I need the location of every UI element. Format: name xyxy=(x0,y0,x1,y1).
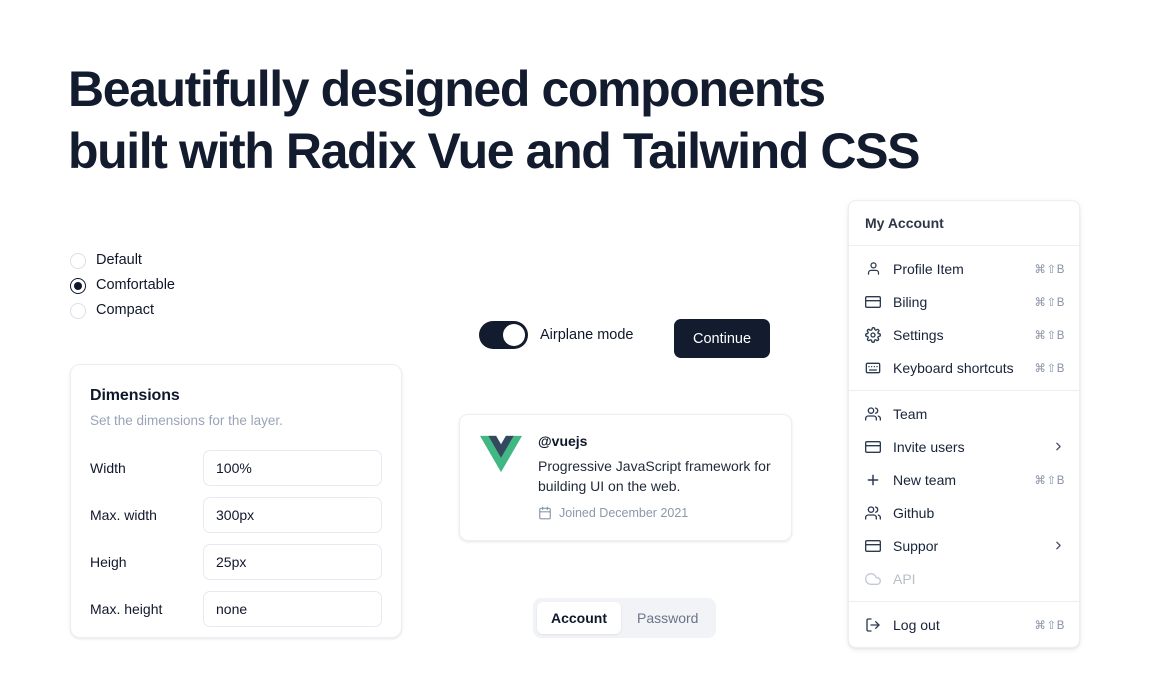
vuejs-joined-row: Joined December 2021 xyxy=(538,506,771,520)
menu-item-label: Biling xyxy=(893,294,1022,310)
vuejs-description: Progressive JavaScript framework for bui… xyxy=(538,457,771,497)
menu-item-label: Team xyxy=(893,406,1065,422)
user-icon xyxy=(865,261,881,277)
radio-indicator[interactable] xyxy=(70,303,86,319)
dimension-input-max-height[interactable] xyxy=(203,591,382,627)
page-title-line-2: built with Radix Vue and Tailwind CSS xyxy=(68,120,1008,182)
dimension-input-max-width[interactable] xyxy=(203,497,382,533)
logout-icon xyxy=(865,617,881,633)
users-icon xyxy=(865,406,881,422)
menu-item-settings[interactable]: Settings⌘⇧B xyxy=(849,318,1079,351)
menu-item-label: Github xyxy=(893,505,1065,521)
plus-icon xyxy=(865,472,881,488)
airplane-mode-label: Airplane mode xyxy=(540,327,634,343)
menu-item-label: New team xyxy=(893,472,1022,488)
menu-item-github[interactable]: Github xyxy=(849,496,1079,529)
dimensions-title: Dimensions xyxy=(90,387,382,405)
tab-password[interactable]: Password xyxy=(623,602,712,634)
credit-card-icon xyxy=(865,294,881,310)
dimension-input-heigh[interactable] xyxy=(203,544,382,580)
radio-option-label: Compact xyxy=(96,303,154,318)
menu-item-label: API xyxy=(893,571,1065,587)
dimension-label: Max. height xyxy=(90,601,203,617)
page-title: Beautifully designed components built wi… xyxy=(68,58,1008,182)
gear-icon xyxy=(865,327,881,343)
menu-item-shortcut: ⌘⇧B xyxy=(1034,473,1065,487)
airplane-mode-switch[interactable] xyxy=(479,321,528,349)
menu-item-new-team[interactable]: New team⌘⇧B xyxy=(849,463,1079,496)
dimensions-fields: WidthMax. widthHeighMax. height xyxy=(90,444,382,632)
menu-item-label: Invite users xyxy=(893,439,1040,455)
dimension-row: Max. height xyxy=(90,585,382,632)
my-account-dropdown-menu: My Account Profile Item⌘⇧BBiling⌘⇧BSetti… xyxy=(848,200,1080,648)
dimension-label: Max. width xyxy=(90,507,203,523)
radio-option-comfortable[interactable]: Comfortable xyxy=(70,273,175,298)
dimensions-subtitle: Set the dimensions for the layer. xyxy=(90,413,382,428)
menu-item-shortcut: ⌘⇧B xyxy=(1034,262,1065,276)
vuejs-joined-text: Joined December 2021 xyxy=(559,506,688,520)
menu-item-profile-item[interactable]: Profile Item⌘⇧B xyxy=(849,252,1079,285)
credit-card-icon xyxy=(865,538,881,554)
radio-option-compact[interactable]: Compact xyxy=(70,298,175,323)
vue-logo-icon xyxy=(480,435,522,473)
dimension-input-width[interactable] xyxy=(203,450,382,486)
menu-item-shortcut: ⌘⇧B xyxy=(1034,618,1065,632)
menu-item-suppor[interactable]: Suppor xyxy=(849,529,1079,562)
calendar-icon xyxy=(538,506,552,520)
page-root: Beautifully designed components built wi… xyxy=(0,0,1152,700)
hover-card-body: @vuejs Progressive JavaScript framework … xyxy=(538,433,771,522)
menu-item-label: Log out xyxy=(893,617,1022,633)
dimension-label: Heigh xyxy=(90,554,203,570)
account-password-tabs: AccountPassword xyxy=(533,598,716,638)
menu-item-invite-users[interactable]: Invite users xyxy=(849,430,1079,463)
radio-option-label: Comfortable xyxy=(96,278,175,293)
page-title-line-1: Beautifully designed components xyxy=(68,58,1008,120)
dimension-label: Width xyxy=(90,460,203,476)
menu-item-shortcut: ⌘⇧B xyxy=(1034,361,1065,375)
dimension-row: Width xyxy=(90,444,382,491)
menu-group: Log out⌘⇧B xyxy=(849,602,1079,647)
dimension-row: Max. width xyxy=(90,491,382,538)
dimension-row: Heigh xyxy=(90,538,382,585)
tab-account[interactable]: Account xyxy=(537,602,621,634)
menu-item-keyboard-shortcuts[interactable]: Keyboard shortcuts⌘⇧B xyxy=(849,351,1079,384)
vuejs-hover-card: @vuejs Progressive JavaScript framework … xyxy=(459,414,792,541)
menu-item-team[interactable]: Team xyxy=(849,397,1079,430)
chevron-right-icon xyxy=(1052,440,1065,453)
menu-item-api: API xyxy=(849,562,1079,595)
menu-label: My Account xyxy=(849,201,1079,245)
switch-knob xyxy=(503,324,525,346)
vuejs-handle: @vuejs xyxy=(538,433,771,449)
radio-group: DefaultComfortableCompact xyxy=(70,248,175,323)
radio-indicator[interactable] xyxy=(70,253,86,269)
continue-button[interactable]: Continue xyxy=(674,319,770,358)
keyboard-icon xyxy=(865,360,881,376)
menu-item-shortcut: ⌘⇧B xyxy=(1034,328,1065,342)
radio-option-label: Default xyxy=(96,253,142,268)
menu-item-label: Settings xyxy=(893,327,1022,343)
chevron-right-icon xyxy=(1052,539,1065,552)
radio-indicator[interactable] xyxy=(70,278,86,294)
credit-card-icon xyxy=(865,439,881,455)
menu-item-label: Keyboard shortcuts xyxy=(893,360,1022,376)
menu-item-shortcut: ⌘⇧B xyxy=(1034,295,1065,309)
airplane-mode-switch-group: Airplane mode xyxy=(479,321,634,349)
menu-item-label: Suppor xyxy=(893,538,1040,554)
dimensions-card: Dimensions Set the dimensions for the la… xyxy=(70,364,402,638)
radio-option-default[interactable]: Default xyxy=(70,248,175,273)
menu-group: Profile Item⌘⇧BBiling⌘⇧BSettings⌘⇧BKeybo… xyxy=(849,246,1079,390)
menu-item-log-out[interactable]: Log out⌘⇧B xyxy=(849,608,1079,641)
users-icon xyxy=(865,505,881,521)
menu-item-label: Profile Item xyxy=(893,261,1022,277)
menu-groups: Profile Item⌘⇧BBiling⌘⇧BSettings⌘⇧BKeybo… xyxy=(849,246,1079,647)
menu-group: TeamInvite usersNew team⌘⇧BGithubSupporA… xyxy=(849,391,1079,601)
menu-item-biling[interactable]: Biling⌘⇧B xyxy=(849,285,1079,318)
cloud-icon xyxy=(865,571,881,587)
